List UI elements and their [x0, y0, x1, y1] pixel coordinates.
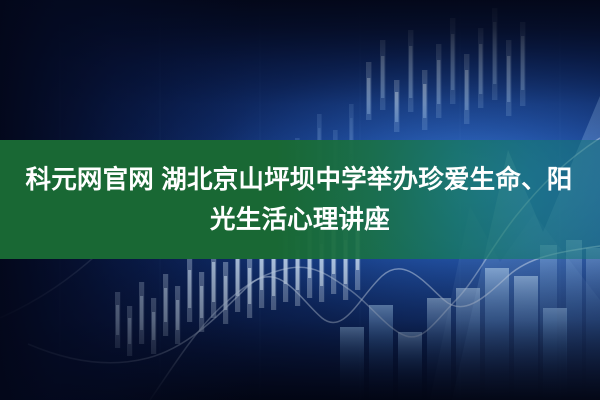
banner-image: 科元网官网 湖北京山坪坝中学举办珍爱生命、阳 光生活心理讲座 — [0, 0, 600, 400]
banner-title: 科元网官网 湖北京山坪坝中学举办珍爱生命、阳 光生活心理讲座 — [0, 140, 600, 259]
banner-title-line-2: 光生活心理讲座 — [210, 200, 390, 240]
banner-title-line-1: 科元网官网 湖北京山坪坝中学举办珍爱生命、阳 — [26, 160, 575, 200]
